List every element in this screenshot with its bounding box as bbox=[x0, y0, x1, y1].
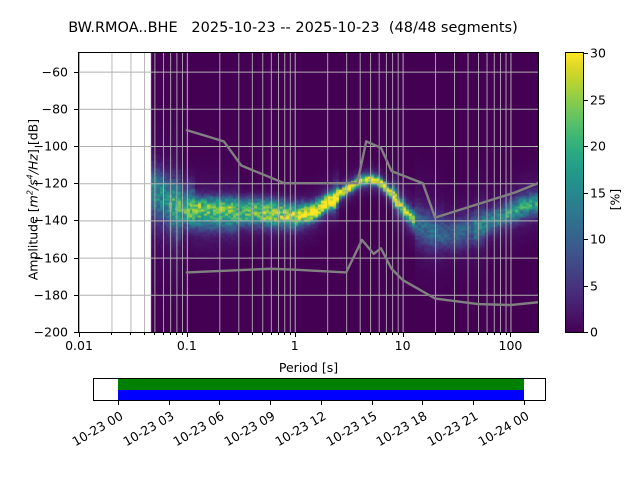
timeline-tick-label: 10-24 00 bbox=[470, 408, 531, 452]
noise-model-curves bbox=[79, 53, 538, 332]
x-tick-label: 1 bbox=[291, 338, 299, 353]
timeline-tick-mark bbox=[270, 401, 271, 405]
x-tick-label: 100 bbox=[499, 338, 523, 353]
x-tick-mark-minor bbox=[392, 333, 393, 335]
y-tick-mark bbox=[74, 109, 78, 110]
timeline-tick-mark bbox=[169, 401, 170, 405]
colorbar-tick-mark bbox=[584, 100, 588, 101]
y-tick-label: −60 bbox=[0, 64, 68, 79]
ppsd-figure: BW.RMOA..BHE 2025-10-23 -- 2025-10-23 (4… bbox=[0, 0, 640, 480]
timeline-tick-label: 10-23 03 bbox=[115, 408, 176, 452]
x-tick-mark-minor bbox=[262, 333, 263, 335]
x-tick-mark-minor bbox=[327, 333, 328, 335]
x-tick-mark bbox=[510, 333, 511, 337]
timeline-tick-label: 10-23 06 bbox=[166, 408, 227, 452]
y-tick-mark bbox=[74, 220, 78, 221]
x-tick-mark-minor bbox=[290, 333, 291, 335]
x-tick-mark bbox=[403, 333, 404, 337]
y-tick-mark bbox=[74, 72, 78, 73]
timeline-tick-mark bbox=[473, 401, 474, 405]
x-tick-mark-minor bbox=[506, 333, 507, 335]
colorbar-gradient bbox=[566, 53, 583, 332]
y-tick-label: −180 bbox=[0, 287, 68, 302]
timeline-tick-label: 10-23 09 bbox=[216, 408, 277, 452]
y-tick-label: −140 bbox=[0, 213, 68, 228]
y-tick-mark bbox=[74, 183, 78, 184]
timeline-tick-mark bbox=[118, 401, 119, 405]
y-tick-label: −100 bbox=[0, 139, 68, 154]
x-tick-mark-minor bbox=[478, 333, 479, 335]
colorbar-tick-label: 10 bbox=[590, 232, 606, 247]
timeline-tick-mark bbox=[321, 401, 322, 405]
x-tick-label: 0.01 bbox=[65, 338, 93, 353]
timeline-tick-label: 10-23 15 bbox=[318, 408, 379, 452]
x-tick-mark-minor bbox=[370, 333, 371, 335]
colorbar-label: [%] bbox=[608, 120, 623, 280]
timeline-tick-label: 10-23 21 bbox=[419, 408, 480, 452]
colorbar-tick-mark bbox=[584, 286, 588, 287]
x-tick-mark-minor bbox=[379, 333, 380, 335]
colorbar-tick-mark bbox=[584, 239, 588, 240]
x-tick-mark-minor bbox=[494, 333, 495, 335]
y-tick-label: −80 bbox=[0, 101, 68, 116]
x-tick-mark-minor bbox=[284, 333, 285, 335]
y-tick-mark bbox=[74, 146, 78, 147]
x-tick-mark-minor bbox=[170, 333, 171, 335]
x-tick-mark-minor bbox=[398, 333, 399, 335]
timeline-tick-label: 10-23 00 bbox=[64, 408, 125, 452]
colorbar[interactable] bbox=[565, 52, 584, 333]
x-tick-label: 0.1 bbox=[177, 338, 197, 353]
x-tick-mark-minor bbox=[163, 333, 164, 335]
colorbar-tick-label: 15 bbox=[590, 185, 606, 200]
x-tick-mark-minor bbox=[238, 333, 239, 335]
x-tick-mark-minor bbox=[130, 333, 131, 335]
x-tick-label: 10 bbox=[395, 338, 411, 353]
x-tick-mark bbox=[187, 333, 188, 337]
timeline-tick-mark bbox=[372, 401, 373, 405]
timeline-tick-mark bbox=[524, 401, 525, 405]
x-tick-mark-minor bbox=[386, 333, 387, 335]
x-tick-mark-minor bbox=[360, 333, 361, 335]
x-tick-mark-minor bbox=[154, 333, 155, 335]
x-tick-mark-minor bbox=[500, 333, 501, 335]
colorbar-tick-label: 30 bbox=[590, 46, 606, 61]
timeline-tick-label: 10-23 12 bbox=[267, 408, 328, 452]
timeline-tick-mark bbox=[422, 401, 423, 405]
x-tick-mark-minor bbox=[346, 333, 347, 335]
x-tick-mark-minor bbox=[468, 333, 469, 335]
colorbar-tick-label: 25 bbox=[590, 92, 606, 107]
x-tick-mark bbox=[79, 333, 80, 337]
colorbar-tick-mark bbox=[584, 332, 588, 333]
x-tick-mark-minor bbox=[252, 333, 253, 335]
timeline-tick-mark bbox=[219, 401, 220, 405]
x-tick-mark-minor bbox=[144, 333, 145, 335]
colorbar-tick-mark bbox=[584, 193, 588, 194]
x-tick-mark-minor bbox=[111, 333, 112, 335]
y-tick-label: −120 bbox=[0, 176, 68, 191]
psd-segments-band bbox=[118, 390, 524, 401]
colorbar-tick-label: 0 bbox=[590, 325, 598, 340]
x-tick-mark-minor bbox=[271, 333, 272, 335]
y-tick-mark bbox=[74, 295, 78, 296]
x-tick-mark-minor bbox=[454, 333, 455, 335]
y-tick-label: −160 bbox=[0, 250, 68, 265]
timeline-coverage-axes[interactable] bbox=[93, 378, 546, 401]
x-tick-mark-minor bbox=[219, 333, 220, 335]
timeline-tick-label: 10-23 18 bbox=[369, 408, 430, 452]
colorbar-tick-label: 20 bbox=[590, 139, 606, 154]
colorbar-tick-mark bbox=[584, 146, 588, 147]
x-tick-mark-minor bbox=[176, 333, 177, 335]
y-tick-mark bbox=[74, 258, 78, 259]
x-tick-mark bbox=[295, 333, 296, 337]
ppsd-plot-area[interactable] bbox=[78, 52, 539, 333]
x-tick-mark-minor bbox=[435, 333, 436, 335]
page-title: BW.RMOA..BHE 2025-10-23 -- 2025-10-23 (4… bbox=[0, 20, 586, 36]
x-tick-mark-minor bbox=[278, 333, 279, 335]
y-tick-mark bbox=[74, 332, 78, 333]
data-coverage-band bbox=[118, 379, 524, 390]
x-axis-label: Period [s] bbox=[78, 360, 539, 375]
x-tick-mark-minor bbox=[182, 333, 183, 335]
colorbar-tick-mark bbox=[584, 53, 588, 54]
y-tick-label: −200 bbox=[0, 325, 68, 340]
x-tick-mark-minor bbox=[487, 333, 488, 335]
colorbar-tick-label: 5 bbox=[590, 278, 598, 293]
